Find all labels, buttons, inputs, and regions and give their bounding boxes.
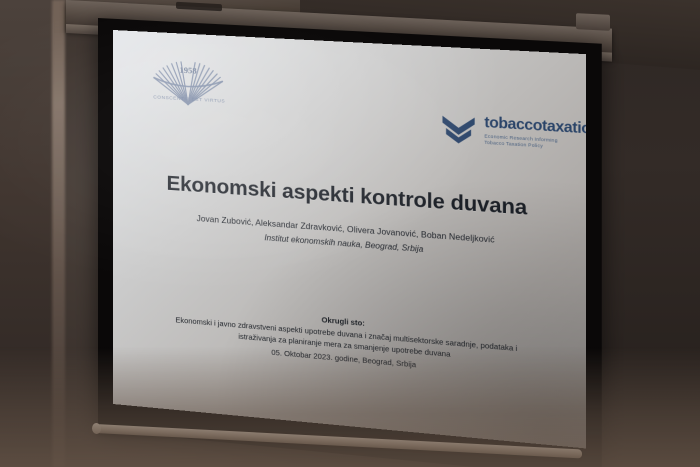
slide-footer-block: Okrugli sto: Ekonomski i javno zdravstve… — [127, 299, 570, 383]
projector-screen-assembly: 1958 CONSCENTIA EST VIRTUS tobaccotaxati… — [0, 0, 700, 467]
tobaccotaxation-text-block: tobaccotaxation Economic Research Inform… — [484, 114, 585, 154]
slide-title-block: Ekonomski aspekti kontrole duvana Jovan … — [113, 168, 586, 266]
tobaccotaxation-logo: tobaccotaxation Economic Research Inform… — [440, 111, 585, 153]
projector-screen-photo: 1958 CONSCENTIA EST VIRTUS tobaccotaxati… — [0, 0, 700, 467]
ien-institute-logo: 1958 — [149, 54, 228, 121]
presentation-slide: 1958 CONSCENTIA EST VIRTUS tobaccotaxati… — [113, 30, 586, 448]
screen-mount-bracket — [576, 13, 610, 31]
tobaccotaxation-chevron-icon — [440, 112, 476, 145]
screen-projection-surface: 1958 CONSCENTIA EST VIRTUS tobaccotaxati… — [113, 30, 586, 448]
screen-bar-end-knob — [92, 423, 101, 434]
ien-logo-year: 1958 — [179, 65, 196, 76]
